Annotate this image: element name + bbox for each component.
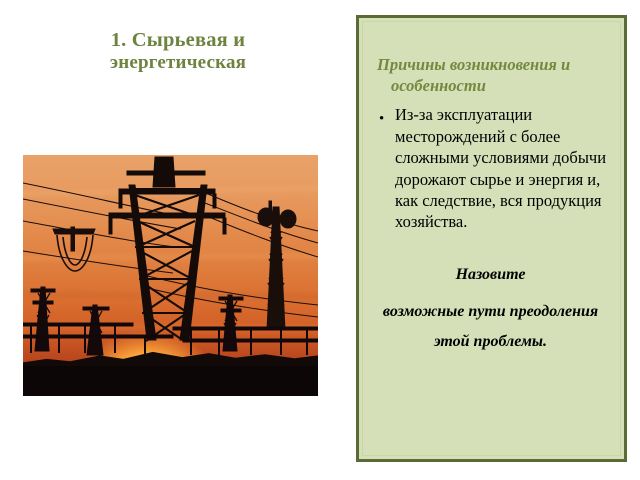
closing-prompt-line-3: этой проблемы. [373,330,608,355]
closing-prompt-line-1: Назовите [373,263,608,288]
page-title-line-2: энергетическая [18,52,338,74]
list-item: • Из-за эксплуатации месторождений с бол… [379,104,608,233]
content-panel-inner: Причины возникновения и особенности • Из… [362,21,621,456]
closing-prompt-line-2: возможные пути преодоления [373,300,608,325]
sunset-pylons-photo [23,155,318,396]
list-item-text: Из-за эксплуатации месторождений с более… [389,104,608,233]
page-title: 1. Сырьевая и энергетическая [18,28,338,75]
closing-prompt: Назовите возможные пути преодоления этой… [373,263,608,355]
content-panel: Причины возникновения и особенности • Из… [356,15,627,462]
bullet-dot-icon: • [379,112,389,127]
panel-heading: Причины возникновения и особенности [377,54,608,96]
foreground-silhouette [23,366,318,396]
page-title-line-1: 1. Сырьевая и [18,28,338,52]
